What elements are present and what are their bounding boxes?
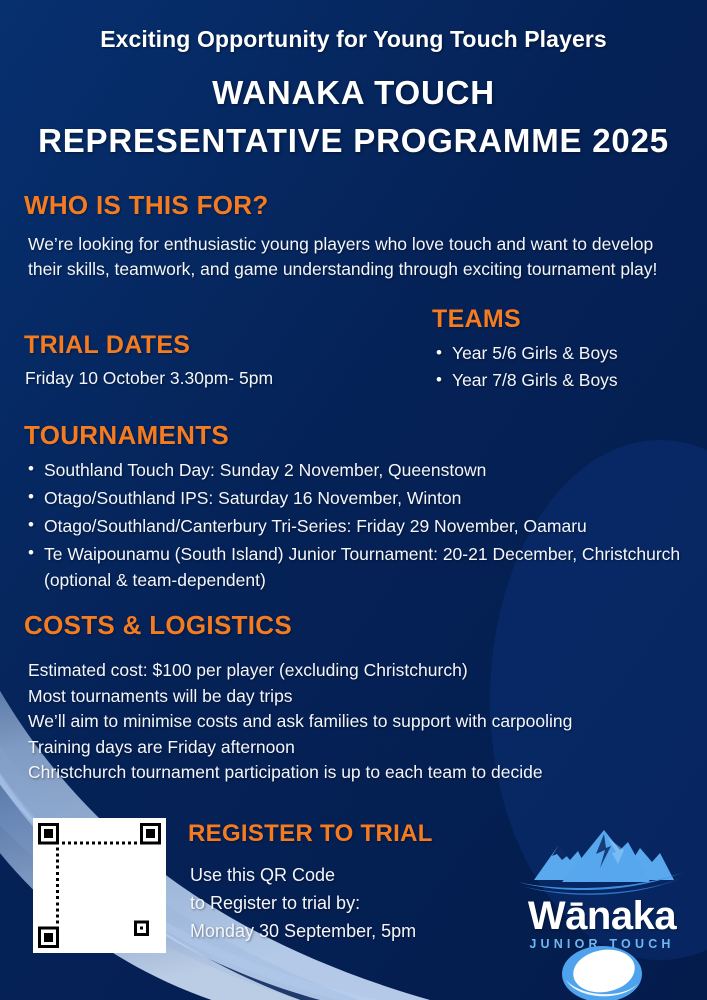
- qr-code-image: [38, 823, 161, 948]
- list-item: Christchurch tournament participation is…: [28, 760, 688, 786]
- list-item: Training days are Friday afternoon: [28, 735, 688, 761]
- tournaments-list: Southland Touch Day: Sunday 2 November, …: [24, 457, 694, 595]
- section-heading-tournaments: TOURNAMENTS: [24, 420, 229, 451]
- list-item: Southland Touch Day: Sunday 2 November, …: [24, 457, 694, 483]
- register-line: Use this QR Code: [190, 861, 490, 889]
- list-item: Year 5/6 Girls & Boys: [432, 341, 697, 366]
- register-line: Monday 30 September, 5pm: [190, 917, 490, 945]
- section-heading-who-is-this-for: WHO IS THIS FOR?: [24, 190, 269, 221]
- section-heading-register-to-trial: REGISTER TO TRIAL: [188, 820, 433, 848]
- teams-list: Year 5/6 Girls & Boys Year 7/8 Girls & B…: [432, 341, 697, 395]
- poster-canvas: Exciting Opportunity for Young Touch Pla…: [0, 0, 707, 1000]
- list-item: Otago/Southland/Canterbury Tri-Series: F…: [24, 513, 694, 539]
- poster-kicker: Exciting Opportunity for Young Touch Pla…: [0, 26, 707, 53]
- wanaka-junior-touch-logo: Wānaka JUNIOR TOUCH: [512, 824, 692, 996]
- list-item: Year 7/8 Girls & Boys: [432, 368, 697, 393]
- costs-and-logistics-list: Estimated cost: $100 per player (excludi…: [28, 658, 688, 786]
- poster-title-line2: REPRESENTATIVE PROGRAMME 2025: [0, 122, 707, 160]
- mountain-icon: [512, 820, 692, 898]
- section-heading-trial-dates: TRIAL DATES: [24, 331, 190, 360]
- list-item: Otago/Southland IPS: Saturday 16 Novembe…: [24, 485, 694, 511]
- who-is-this-for-body: We’re looking for enthusiastic young pla…: [28, 232, 683, 282]
- trial-dates-value: Friday 10 October 3.30pm- 5pm: [25, 366, 405, 391]
- list-item: We’ll aim to minimise costs and ask fami…: [28, 709, 688, 735]
- qr-code[interactable]: [33, 818, 166, 953]
- list-item: Te Waipounamu (South Island) Junior Tour…: [24, 541, 694, 593]
- touch-ball-icon: [560, 944, 644, 1000]
- section-heading-teams: TEAMS: [432, 305, 521, 334]
- logo-wordmark: Wānaka: [512, 894, 692, 939]
- register-instructions: Use this QR Code to Register to trial by…: [190, 861, 490, 945]
- list-item: Most tournaments will be day trips: [28, 684, 688, 710]
- register-line: to Register to trial by:: [190, 889, 490, 917]
- section-heading-costs-and-logistics: COSTS & LOGISTICS: [24, 610, 292, 641]
- poster-title-line1: WANAKA TOUCH: [0, 74, 707, 112]
- list-item: Estimated cost: $100 per player (excludi…: [28, 658, 688, 684]
